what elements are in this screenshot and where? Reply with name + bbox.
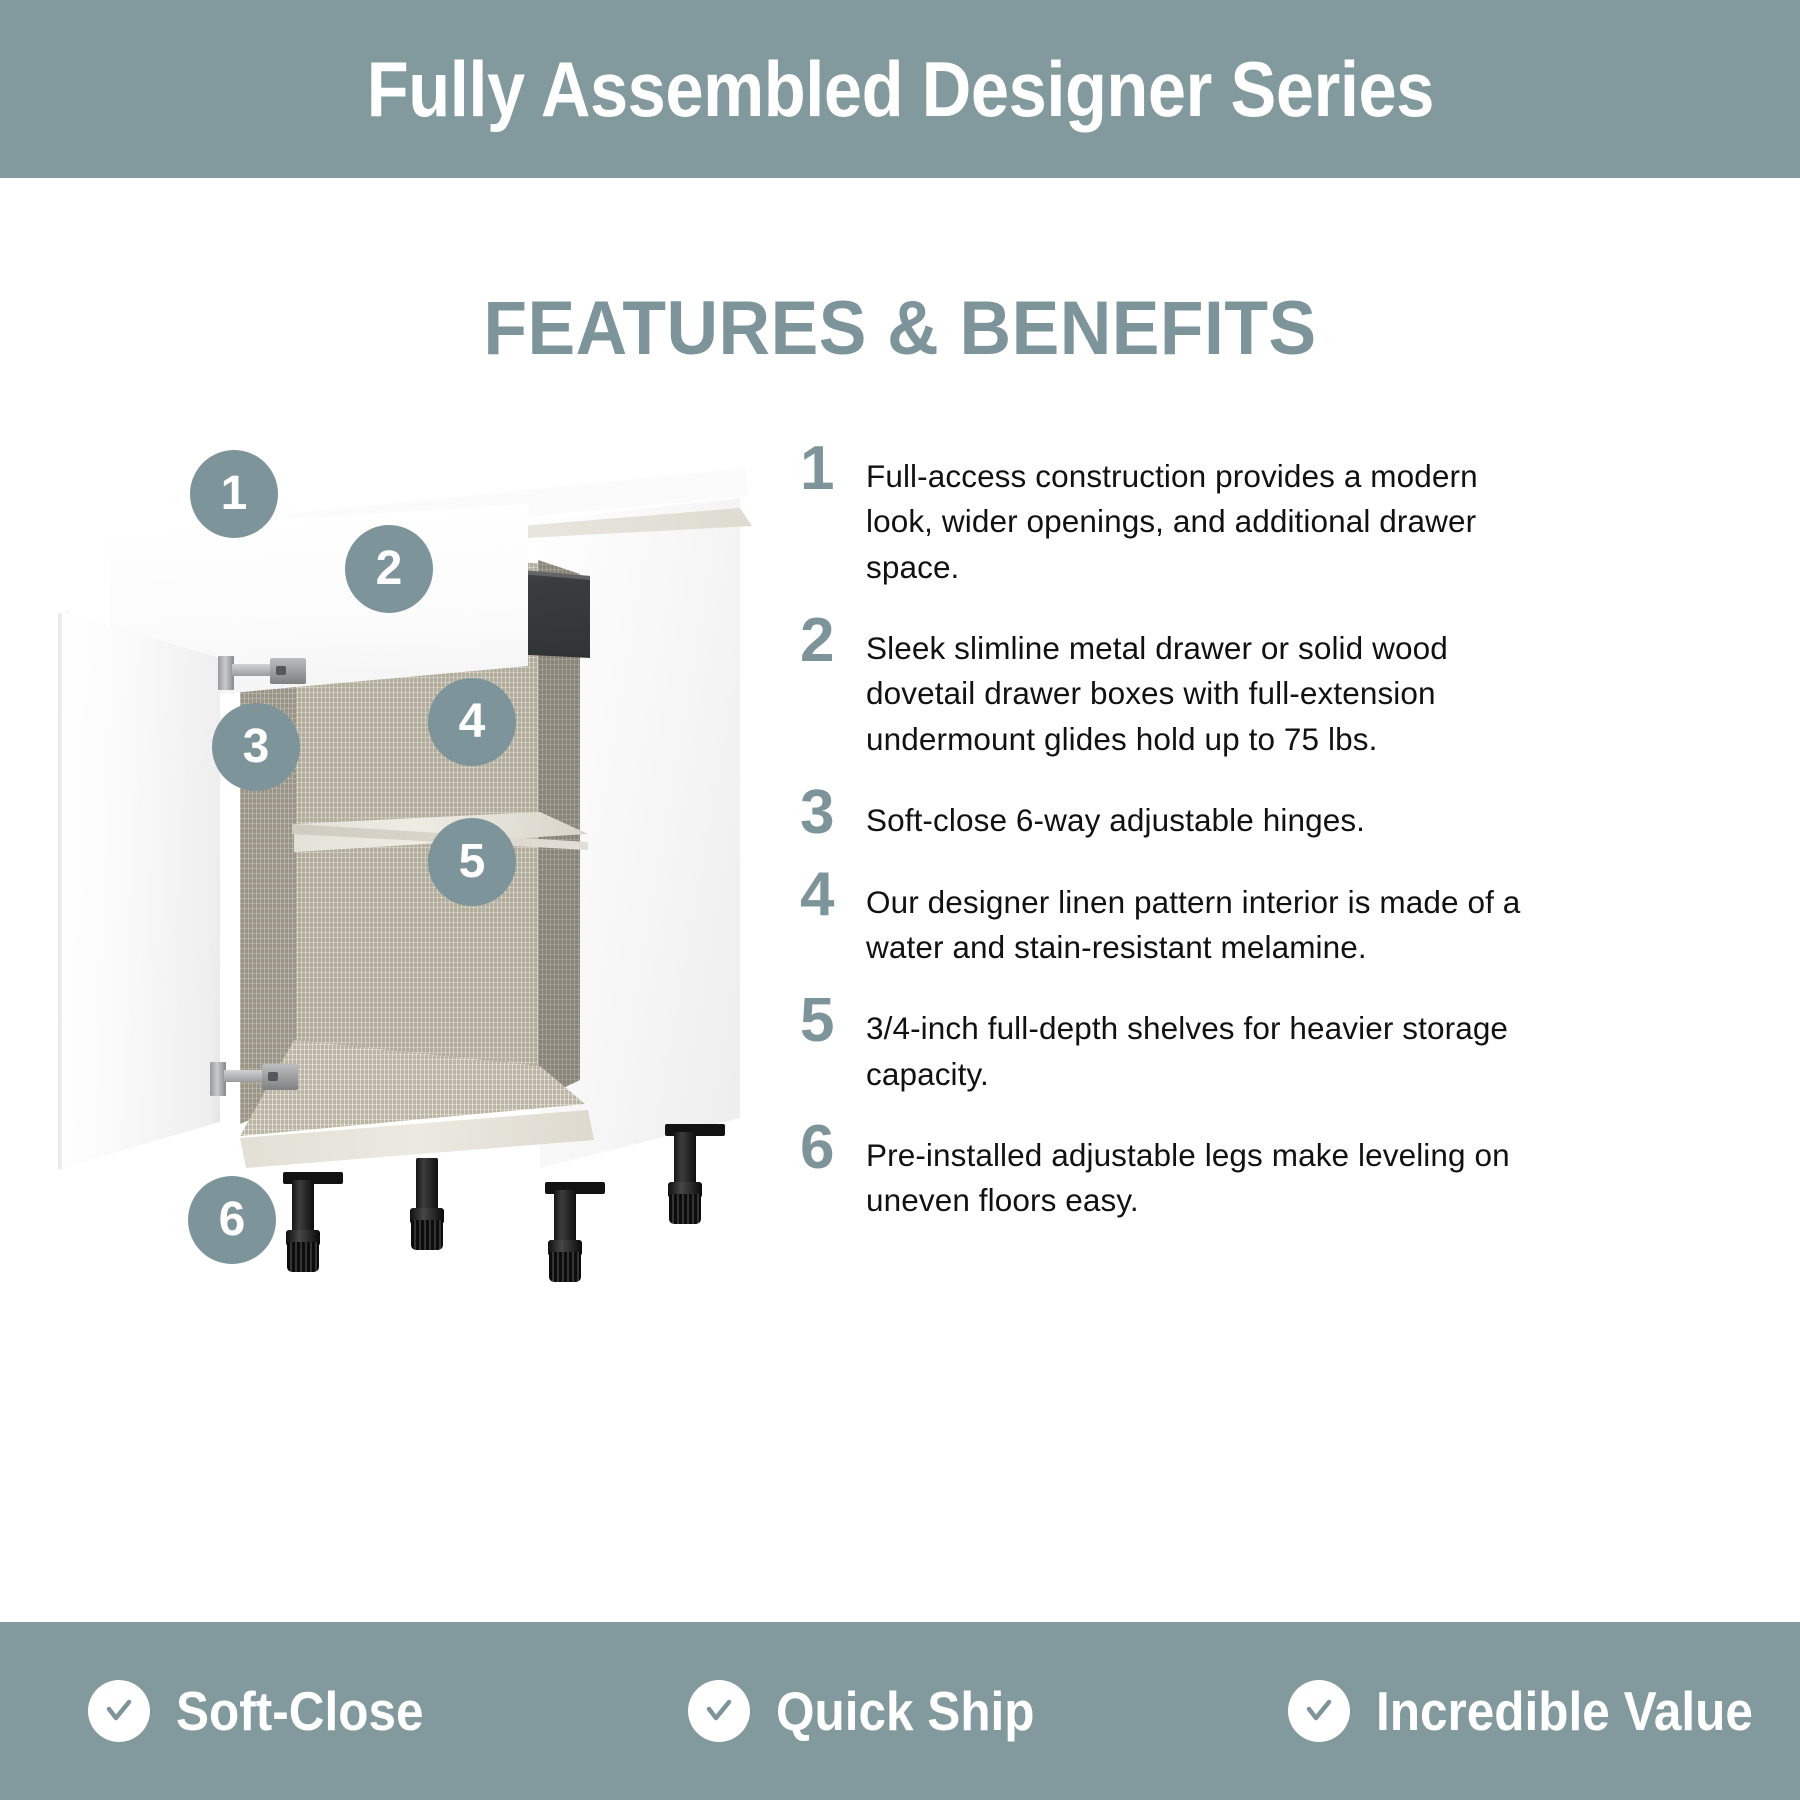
header-bar: Fully Assembled Designer Series — [0, 0, 1800, 178]
page-title: Fully Assembled Designer Series — [366, 50, 1433, 128]
check-circle-icon — [88, 1680, 150, 1742]
feature-number: 4 — [800, 866, 866, 923]
footer-label: Quick Ship — [776, 1684, 1035, 1739]
callout-badge-5: 5 — [428, 818, 516, 906]
footer-label: Soft-Close — [176, 1684, 424, 1739]
footer-bar: Soft-Close Quick Ship Incredible Value — [0, 1622, 1800, 1800]
hinge-icon — [218, 652, 310, 692]
callout-badge-1: 1 — [190, 450, 278, 538]
feature-item: 2 Sleek slimline metal drawer or solid w… — [800, 612, 1540, 762]
feature-description: Our designer linen pattern interior is m… — [866, 866, 1540, 971]
cabinet-door — [62, 612, 222, 1172]
callout-badge-2: 2 — [345, 525, 433, 613]
footer-badge-soft-close: Soft-Close — [0, 1680, 600, 1742]
feature-item: 4 Our designer linen pattern interior is… — [800, 866, 1540, 971]
feature-item: 5 3/4-inch full-depth shelves for heavie… — [800, 992, 1540, 1097]
feature-number: 2 — [800, 612, 866, 669]
footer-label: Incredible Value — [1376, 1684, 1753, 1739]
check-circle-icon — [688, 1680, 750, 1742]
feature-item: 6 Pre-installed adjustable legs make lev… — [800, 1119, 1540, 1224]
check-circle-icon — [1288, 1680, 1350, 1742]
callout-badge-4: 4 — [428, 678, 516, 766]
feature-number: 5 — [800, 992, 866, 1049]
footer-badge-incredible-value: Incredible Value — [1200, 1680, 1800, 1742]
feature-description: Soft-close 6-way adjustable hinges. — [866, 784, 1540, 843]
feature-item: 1 Full-access construction provides a mo… — [800, 440, 1540, 590]
feature-item: 3 Soft-close 6-way adjustable hinges. — [800, 784, 1540, 843]
hinge-icon — [210, 1058, 302, 1098]
feature-number: 1 — [800, 440, 866, 497]
main-content: 1 2 3 4 5 6 1 Full-access construction p… — [0, 420, 1800, 1550]
callout-badge-3: 3 — [212, 703, 300, 791]
feature-description: 3/4-inch full-depth shelves for heavier … — [866, 992, 1540, 1097]
features-list: 1 Full-access construction provides a mo… — [800, 440, 1540, 1246]
feature-description: Sleek slimline metal drawer or solid woo… — [866, 612, 1540, 762]
feature-number: 6 — [800, 1119, 866, 1176]
feature-description: Full-access construction provides a mode… — [866, 440, 1540, 590]
feature-number: 3 — [800, 784, 866, 841]
cabinet-illustration: 1 2 3 4 5 6 — [40, 420, 800, 1510]
footer-badge-quick-ship: Quick Ship — [600, 1680, 1200, 1742]
section-title: FEATURES & BENEFITS — [54, 285, 1746, 372]
callout-badge-6: 6 — [188, 1176, 276, 1264]
feature-description: Pre-installed adjustable legs make level… — [866, 1119, 1540, 1224]
